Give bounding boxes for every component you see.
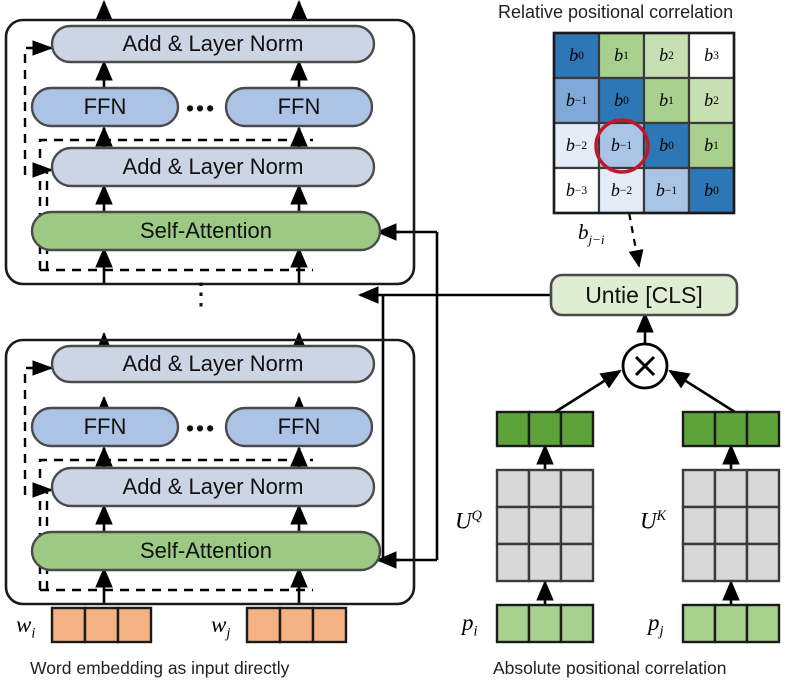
uk-cell [683,544,715,581]
uk-cell [683,470,715,507]
key-output-cell [715,412,747,446]
uk-label: UK [640,508,666,535]
uk-cell [715,507,747,544]
uk-cell [747,470,779,507]
uk-cell [683,507,715,544]
uk-cell [715,544,747,581]
uk-cell [715,470,747,507]
uk-cell [747,507,779,544]
pj-cell [715,605,747,642]
key-output-cell [747,412,779,446]
uk-cell [747,544,779,581]
figure-canvas: Add & Layer Norm FFN ••• FFN Add & Layer… [0,0,801,686]
caption-absolute-positional: Absolute positional correlation [493,658,726,679]
pj-cell [683,605,715,642]
pj-cell [747,605,779,642]
pj-label: pj [648,610,663,641]
projection-key [0,0,801,686]
key-output-cell [683,412,715,446]
